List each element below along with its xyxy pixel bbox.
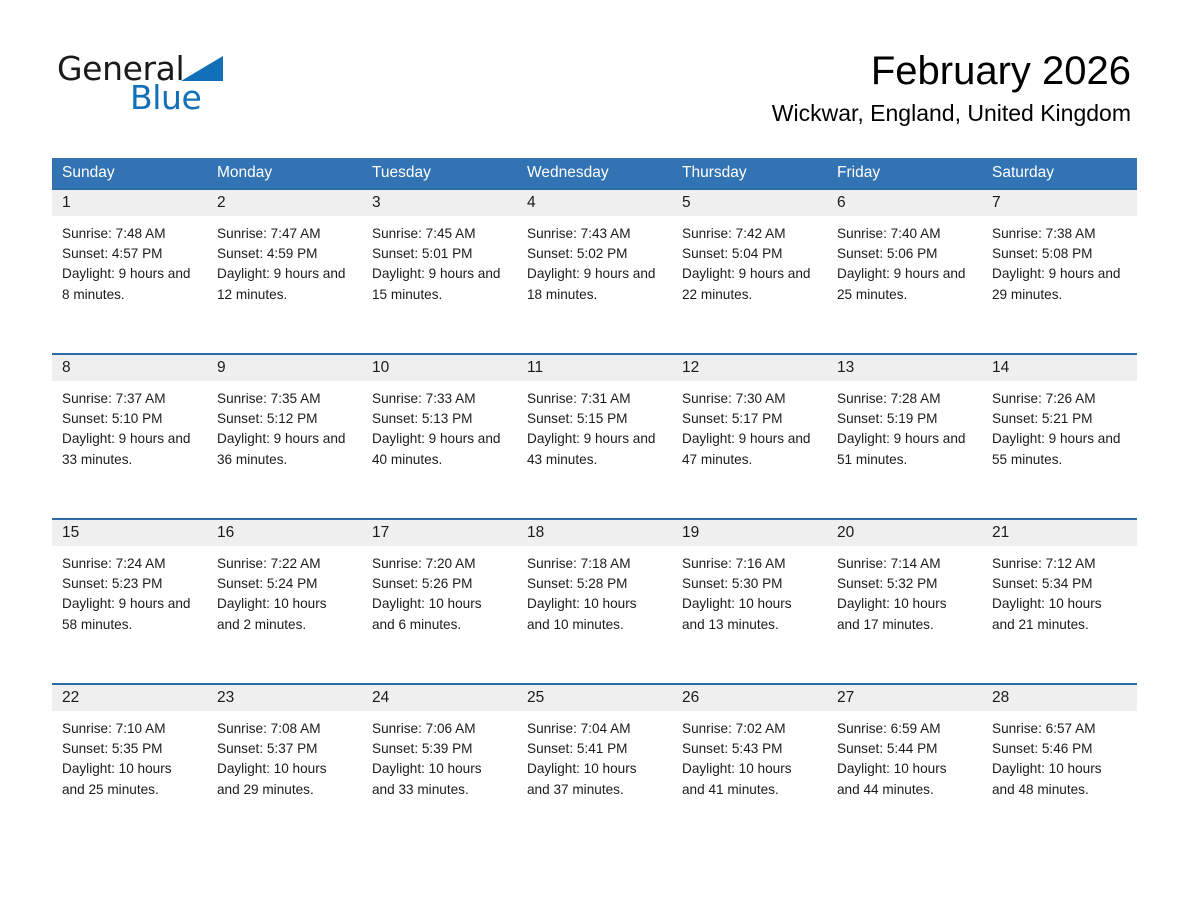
sunrise-text: Sunrise: 7:12 AM (992, 554, 1127, 574)
day-number: 2 (207, 190, 362, 216)
daylight-text: Daylight: 9 hours and 15 minutes. (372, 264, 507, 304)
day-number: 17 (362, 520, 517, 546)
week-row: 15 Sunrise: 7:24 AM Sunset: 5:23 PM Dayl… (52, 518, 1137, 683)
day-number: 26 (672, 685, 827, 711)
day-details: Sunrise: 7:26 AM Sunset: 5:21 PM Dayligh… (982, 381, 1137, 470)
title-block: February 2026 Wickwar, England, United K… (772, 48, 1131, 128)
day-number: 7 (982, 190, 1137, 216)
day-cell[interactable]: 17 Sunrise: 7:20 AM Sunset: 5:26 PM Dayl… (362, 520, 517, 683)
sunset-text: Sunset: 5:32 PM (837, 574, 972, 594)
day-number: 5 (672, 190, 827, 216)
day-details: Sunrise: 7:28 AM Sunset: 5:19 PM Dayligh… (827, 381, 982, 470)
sunset-text: Sunset: 4:57 PM (62, 244, 197, 264)
sunrise-text: Sunrise: 7:04 AM (527, 719, 662, 739)
daylight-text: Daylight: 9 hours and 33 minutes. (62, 429, 197, 469)
sunrise-text: Sunrise: 7:43 AM (527, 224, 662, 244)
weekday-header-row: Sunday Monday Tuesday Wednesday Thursday… (52, 158, 1137, 188)
day-details: Sunrise: 7:37 AM Sunset: 5:10 PM Dayligh… (52, 381, 207, 470)
daylight-text: Daylight: 10 hours and 6 minutes. (372, 594, 507, 634)
day-details: Sunrise: 7:16 AM Sunset: 5:30 PM Dayligh… (672, 546, 827, 635)
day-cell[interactable]: 20 Sunrise: 7:14 AM Sunset: 5:32 PM Dayl… (827, 520, 982, 683)
day-cell[interactable]: 10 Sunrise: 7:33 AM Sunset: 5:13 PM Dayl… (362, 355, 517, 518)
daylight-text: Daylight: 9 hours and 22 minutes. (682, 264, 817, 304)
sunrise-text: Sunrise: 7:48 AM (62, 224, 197, 244)
sunset-text: Sunset: 5:43 PM (682, 739, 817, 759)
sunset-text: Sunset: 5:04 PM (682, 244, 817, 264)
daylight-text: Daylight: 10 hours and 44 minutes. (837, 759, 972, 799)
sunrise-text: Sunrise: 7:38 AM (992, 224, 1127, 244)
sunrise-text: Sunrise: 7:45 AM (372, 224, 507, 244)
general-blue-logo[interactable]: General Blue (57, 52, 277, 114)
day-details: Sunrise: 7:06 AM Sunset: 5:39 PM Dayligh… (362, 711, 517, 800)
sunset-text: Sunset: 5:17 PM (682, 409, 817, 429)
day-details: Sunrise: 7:43 AM Sunset: 5:02 PM Dayligh… (517, 216, 672, 305)
day-cell[interactable]: 27 Sunrise: 6:59 AM Sunset: 5:44 PM Dayl… (827, 685, 982, 848)
sunrise-text: Sunrise: 7:14 AM (837, 554, 972, 574)
day-cell[interactable]: 5 Sunrise: 7:42 AM Sunset: 5:04 PM Dayli… (672, 190, 827, 353)
day-details: Sunrise: 6:57 AM Sunset: 5:46 PM Dayligh… (982, 711, 1137, 800)
sunset-text: Sunset: 5:30 PM (682, 574, 817, 594)
daylight-text: Daylight: 9 hours and 51 minutes. (837, 429, 972, 469)
sunrise-text: Sunrise: 7:18 AM (527, 554, 662, 574)
day-number: 10 (362, 355, 517, 381)
day-number: 15 (52, 520, 207, 546)
day-number: 22 (52, 685, 207, 711)
day-details: Sunrise: 7:45 AM Sunset: 5:01 PM Dayligh… (362, 216, 517, 305)
day-cell[interactable]: 18 Sunrise: 7:18 AM Sunset: 5:28 PM Dayl… (517, 520, 672, 683)
day-cell[interactable]: 24 Sunrise: 7:06 AM Sunset: 5:39 PM Dayl… (362, 685, 517, 848)
day-details: Sunrise: 7:14 AM Sunset: 5:32 PM Dayligh… (827, 546, 982, 635)
day-details: Sunrise: 7:48 AM Sunset: 4:57 PM Dayligh… (52, 216, 207, 305)
day-number: 3 (362, 190, 517, 216)
day-cell[interactable]: 15 Sunrise: 7:24 AM Sunset: 5:23 PM Dayl… (52, 520, 207, 683)
daylight-text: Daylight: 9 hours and 18 minutes. (527, 264, 662, 304)
day-details: Sunrise: 7:12 AM Sunset: 5:34 PM Dayligh… (982, 546, 1137, 635)
daylight-text: Daylight: 9 hours and 29 minutes. (992, 264, 1127, 304)
day-number: 20 (827, 520, 982, 546)
day-details: Sunrise: 6:59 AM Sunset: 5:44 PM Dayligh… (827, 711, 982, 800)
day-number: 12 (672, 355, 827, 381)
sunset-text: Sunset: 5:12 PM (217, 409, 352, 429)
weekday-header-friday: Friday (827, 158, 982, 188)
day-number: 27 (827, 685, 982, 711)
sunrise-text: Sunrise: 7:33 AM (372, 389, 507, 409)
day-cell[interactable]: 25 Sunrise: 7:04 AM Sunset: 5:41 PM Dayl… (517, 685, 672, 848)
sunrise-text: Sunrise: 7:31 AM (527, 389, 662, 409)
sunset-text: Sunset: 5:41 PM (527, 739, 662, 759)
week-row: 1 Sunrise: 7:48 AM Sunset: 4:57 PM Dayli… (52, 188, 1137, 353)
sunrise-text: Sunrise: 7:22 AM (217, 554, 352, 574)
daylight-text: Daylight: 10 hours and 41 minutes. (682, 759, 817, 799)
sunset-text: Sunset: 4:59 PM (217, 244, 352, 264)
weekday-header-thursday: Thursday (672, 158, 827, 188)
daylight-text: Daylight: 9 hours and 36 minutes. (217, 429, 352, 469)
day-cell[interactable]: 14 Sunrise: 7:26 AM Sunset: 5:21 PM Dayl… (982, 355, 1137, 518)
day-number: 6 (827, 190, 982, 216)
day-number: 4 (517, 190, 672, 216)
daylight-text: Daylight: 9 hours and 8 minutes. (62, 264, 197, 304)
day-cell[interactable]: 3 Sunrise: 7:45 AM Sunset: 5:01 PM Dayli… (362, 190, 517, 353)
sunrise-text: Sunrise: 7:28 AM (837, 389, 972, 409)
location-subtitle: Wickwar, England, United Kingdom (772, 100, 1131, 128)
sunrise-text: Sunrise: 7:06 AM (372, 719, 507, 739)
sunset-text: Sunset: 5:28 PM (527, 574, 662, 594)
sunset-text: Sunset: 5:26 PM (372, 574, 507, 594)
daylight-text: Daylight: 10 hours and 17 minutes. (837, 594, 972, 634)
daylight-text: Daylight: 9 hours and 40 minutes. (372, 429, 507, 469)
sunrise-text: Sunrise: 7:02 AM (682, 719, 817, 739)
week-row: 22 Sunrise: 7:10 AM Sunset: 5:35 PM Dayl… (52, 683, 1137, 848)
day-details: Sunrise: 7:24 AM Sunset: 5:23 PM Dayligh… (52, 546, 207, 635)
daylight-text: Daylight: 9 hours and 25 minutes. (837, 264, 972, 304)
day-details: Sunrise: 7:22 AM Sunset: 5:24 PM Dayligh… (207, 546, 362, 635)
sunrise-text: Sunrise: 7:30 AM (682, 389, 817, 409)
sunset-text: Sunset: 5:34 PM (992, 574, 1127, 594)
sunrise-text: Sunrise: 7:24 AM (62, 554, 197, 574)
day-number: 28 (982, 685, 1137, 711)
day-details: Sunrise: 7:18 AM Sunset: 5:28 PM Dayligh… (517, 546, 672, 635)
day-details: Sunrise: 7:33 AM Sunset: 5:13 PM Dayligh… (362, 381, 517, 470)
sunrise-text: Sunrise: 7:16 AM (682, 554, 817, 574)
daylight-text: Daylight: 10 hours and 10 minutes. (527, 594, 662, 634)
day-number: 14 (982, 355, 1137, 381)
day-details: Sunrise: 7:35 AM Sunset: 5:12 PM Dayligh… (207, 381, 362, 470)
sunset-text: Sunset: 5:39 PM (372, 739, 507, 759)
sunset-text: Sunset: 5:15 PM (527, 409, 662, 429)
day-number: 23 (207, 685, 362, 711)
daylight-text: Daylight: 10 hours and 33 minutes. (372, 759, 507, 799)
sunset-text: Sunset: 5:21 PM (992, 409, 1127, 429)
sunset-text: Sunset: 5:44 PM (837, 739, 972, 759)
day-cell[interactable]: 12 Sunrise: 7:30 AM Sunset: 5:17 PM Dayl… (672, 355, 827, 518)
day-number: 8 (52, 355, 207, 381)
day-cell[interactable]: 2 Sunrise: 7:47 AM Sunset: 4:59 PM Dayli… (207, 190, 362, 353)
weekday-header-sunday: Sunday (52, 158, 207, 188)
day-details: Sunrise: 7:31 AM Sunset: 5:15 PM Dayligh… (517, 381, 672, 470)
sunrise-text: Sunrise: 7:35 AM (217, 389, 352, 409)
day-cell[interactable]: 13 Sunrise: 7:28 AM Sunset: 5:19 PM Dayl… (827, 355, 982, 518)
daylight-text: Daylight: 10 hours and 13 minutes. (682, 594, 817, 634)
sunrise-text: Sunrise: 7:20 AM (372, 554, 507, 574)
day-details: Sunrise: 7:38 AM Sunset: 5:08 PM Dayligh… (982, 216, 1137, 305)
page-title: February 2026 (772, 48, 1131, 94)
day-details: Sunrise: 7:20 AM Sunset: 5:26 PM Dayligh… (362, 546, 517, 635)
sunset-text: Sunset: 5:01 PM (372, 244, 507, 264)
sunrise-text: Sunrise: 6:57 AM (992, 719, 1127, 739)
sunset-text: Sunset: 5:23 PM (62, 574, 197, 594)
sunrise-text: Sunrise: 7:37 AM (62, 389, 197, 409)
day-cell[interactable]: 4 Sunrise: 7:43 AM Sunset: 5:02 PM Dayli… (517, 190, 672, 353)
day-cell[interactable]: 11 Sunrise: 7:31 AM Sunset: 5:15 PM Dayl… (517, 355, 672, 518)
page-header: General Blue February 2026 Wickwar, Engl… (0, 0, 1188, 110)
day-cell[interactable]: 1 Sunrise: 7:48 AM Sunset: 4:57 PM Dayli… (52, 190, 207, 353)
day-details: Sunrise: 7:10 AM Sunset: 5:35 PM Dayligh… (52, 711, 207, 800)
day-number: 16 (207, 520, 362, 546)
sunrise-text: Sunrise: 7:40 AM (837, 224, 972, 244)
daylight-text: Daylight: 9 hours and 55 minutes. (992, 429, 1127, 469)
day-cell[interactable]: 19 Sunrise: 7:16 AM Sunset: 5:30 PM Dayl… (672, 520, 827, 683)
day-cell[interactable]: 16 Sunrise: 7:22 AM Sunset: 5:24 PM Dayl… (207, 520, 362, 683)
daylight-text: Daylight: 9 hours and 58 minutes. (62, 594, 197, 634)
day-number: 24 (362, 685, 517, 711)
daylight-text: Daylight: 10 hours and 25 minutes. (62, 759, 197, 799)
sunset-text: Sunset: 5:08 PM (992, 244, 1127, 264)
day-details: Sunrise: 7:47 AM Sunset: 4:59 PM Dayligh… (207, 216, 362, 305)
sunset-text: Sunset: 5:10 PM (62, 409, 197, 429)
day-cell[interactable]: 26 Sunrise: 7:02 AM Sunset: 5:43 PM Dayl… (672, 685, 827, 848)
daylight-text: Daylight: 9 hours and 47 minutes. (682, 429, 817, 469)
day-details: Sunrise: 7:08 AM Sunset: 5:37 PM Dayligh… (207, 711, 362, 800)
logo-text-blue: Blue (130, 81, 277, 114)
day-details: Sunrise: 7:40 AM Sunset: 5:06 PM Dayligh… (827, 216, 982, 305)
sunset-text: Sunset: 5:19 PM (837, 409, 972, 429)
day-number: 13 (827, 355, 982, 381)
sunrise-text: Sunrise: 7:42 AM (682, 224, 817, 244)
sunset-text: Sunset: 5:35 PM (62, 739, 197, 759)
day-number: 11 (517, 355, 672, 381)
day-details: Sunrise: 7:02 AM Sunset: 5:43 PM Dayligh… (672, 711, 827, 800)
day-cell[interactable]: 9 Sunrise: 7:35 AM Sunset: 5:12 PM Dayli… (207, 355, 362, 518)
day-details: Sunrise: 7:30 AM Sunset: 5:17 PM Dayligh… (672, 381, 827, 470)
daylight-text: Daylight: 10 hours and 37 minutes. (527, 759, 662, 799)
daylight-text: Daylight: 9 hours and 12 minutes. (217, 264, 352, 304)
day-number: 25 (517, 685, 672, 711)
day-number: 18 (517, 520, 672, 546)
day-number: 1 (52, 190, 207, 216)
sunset-text: Sunset: 5:37 PM (217, 739, 352, 759)
sunrise-text: Sunrise: 7:08 AM (217, 719, 352, 739)
calendar-page: General Blue February 2026 Wickwar, Engl… (0, 0, 1188, 918)
sunrise-text: Sunrise: 6:59 AM (837, 719, 972, 739)
sunset-text: Sunset: 5:06 PM (837, 244, 972, 264)
week-row: 8 Sunrise: 7:37 AM Sunset: 5:10 PM Dayli… (52, 353, 1137, 518)
day-number: 9 (207, 355, 362, 381)
sunset-text: Sunset: 5:02 PM (527, 244, 662, 264)
weekday-header-monday: Monday (207, 158, 362, 188)
daylight-text: Daylight: 10 hours and 21 minutes. (992, 594, 1127, 634)
weekday-header-wednesday: Wednesday (517, 158, 672, 188)
sunrise-text: Sunrise: 7:47 AM (217, 224, 352, 244)
daylight-text: Daylight: 9 hours and 43 minutes. (527, 429, 662, 469)
day-cell[interactable]: 6 Sunrise: 7:40 AM Sunset: 5:06 PM Dayli… (827, 190, 982, 353)
weekday-header-saturday: Saturday (982, 158, 1137, 188)
calendar-grid: Sunday Monday Tuesday Wednesday Thursday… (52, 158, 1137, 848)
sunset-text: Sunset: 5:24 PM (217, 574, 352, 594)
weekday-header-tuesday: Tuesday (362, 158, 517, 188)
sunset-text: Sunset: 5:13 PM (372, 409, 507, 429)
daylight-text: Daylight: 10 hours and 2 minutes. (217, 594, 352, 634)
day-cell[interactable]: 21 Sunrise: 7:12 AM Sunset: 5:34 PM Dayl… (982, 520, 1137, 683)
day-cell[interactable]: 22 Sunrise: 7:10 AM Sunset: 5:35 PM Dayl… (52, 685, 207, 848)
day-number: 19 (672, 520, 827, 546)
day-details: Sunrise: 7:04 AM Sunset: 5:41 PM Dayligh… (517, 711, 672, 800)
sunrise-text: Sunrise: 7:26 AM (992, 389, 1127, 409)
sunset-text: Sunset: 5:46 PM (992, 739, 1127, 759)
day-cell[interactable]: 23 Sunrise: 7:08 AM Sunset: 5:37 PM Dayl… (207, 685, 362, 848)
daylight-text: Daylight: 10 hours and 29 minutes. (217, 759, 352, 799)
daylight-text: Daylight: 10 hours and 48 minutes. (992, 759, 1127, 799)
sunrise-text: Sunrise: 7:10 AM (62, 719, 197, 739)
day-cell[interactable]: 28 Sunrise: 6:57 AM Sunset: 5:46 PM Dayl… (982, 685, 1137, 848)
day-cell[interactable]: 8 Sunrise: 7:37 AM Sunset: 5:10 PM Dayli… (52, 355, 207, 518)
day-number: 21 (982, 520, 1137, 546)
day-cell[interactable]: 7 Sunrise: 7:38 AM Sunset: 5:08 PM Dayli… (982, 190, 1137, 353)
day-details: Sunrise: 7:42 AM Sunset: 5:04 PM Dayligh… (672, 216, 827, 305)
